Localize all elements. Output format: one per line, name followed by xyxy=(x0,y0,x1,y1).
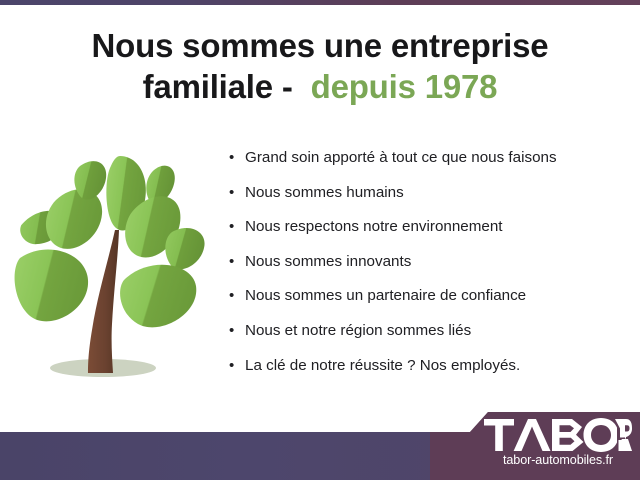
page-title: Nous sommes une entreprise familiale - d… xyxy=(0,26,640,108)
bullet-marker-icon: • xyxy=(229,217,245,236)
list-item: • Nous sommes innovants xyxy=(229,252,629,287)
tree-leaf xyxy=(46,189,102,249)
tree-illustration xyxy=(12,152,217,384)
list-item-label: Nous sommes humains xyxy=(245,183,404,202)
list-item-label: Nous sommes un partenaire de confiance xyxy=(245,286,526,305)
list-item-label: Nous sommes innovants xyxy=(245,252,411,271)
bullet-marker-icon: • xyxy=(229,286,245,305)
tree-trunk xyxy=(88,230,119,373)
headline-line-1: Nous sommes une entreprise xyxy=(0,26,640,67)
bullet-marker-icon: • xyxy=(229,183,245,202)
slide-root: Nous sommes une entreprise familiale - d… xyxy=(0,0,640,480)
brand-url: tabor-automobiles.fr xyxy=(484,453,632,467)
list-item-label: Nous et notre région sommes liés xyxy=(245,321,471,340)
list-item: • La clé de notre réussite ? Nos employé… xyxy=(229,356,629,391)
headline-line-2: familiale - depuis 1978 xyxy=(0,67,640,108)
list-item: • Nous et notre région sommes liés xyxy=(229,321,629,356)
bullet-marker-icon: • xyxy=(229,356,245,375)
top-accent-strip xyxy=(0,0,640,5)
tree-leaf xyxy=(74,161,106,200)
benefits-list: • Grand soin apporté à tout ce que nous … xyxy=(229,148,629,390)
bullet-marker-icon: • xyxy=(229,252,245,271)
footer-left-bar xyxy=(0,432,450,480)
list-item-label: La clé de notre réussite ? Nos employés. xyxy=(245,356,520,375)
tree-leaf xyxy=(15,249,89,321)
list-item: • Nous sommes humains xyxy=(229,183,629,218)
list-item: • Nous sommes un partenaire de confiance xyxy=(229,286,629,321)
tree-leaf xyxy=(120,265,196,328)
list-item-label: Grand soin apporté à tout ce que nous fa… xyxy=(245,148,557,167)
list-item: • Nous respectons notre environnement xyxy=(229,217,629,252)
headline-line-2-green: depuis 1978 xyxy=(311,68,498,105)
bullet-marker-icon: • xyxy=(229,321,245,340)
headline-spacer xyxy=(293,68,311,105)
list-item: • Grand soin apporté à tout ce que nous … xyxy=(229,148,629,183)
bullet-marker-icon: • xyxy=(229,148,245,167)
tree-leaf xyxy=(165,228,204,269)
headline-line-2-dark: familiale - xyxy=(143,68,293,105)
tabor-wordmark-icon xyxy=(484,418,632,452)
list-item-label: Nous respectons notre environnement xyxy=(245,217,503,236)
brand-logo[interactable]: tabor-automobiles.fr xyxy=(484,418,632,467)
